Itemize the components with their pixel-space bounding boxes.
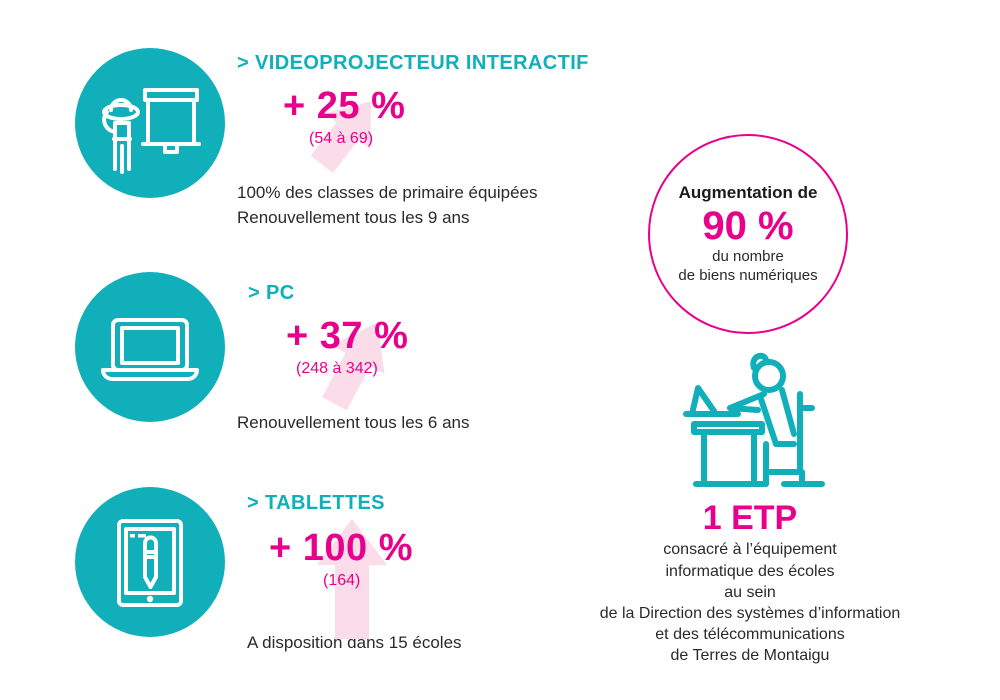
- etp-line-5: et des télécommunications: [540, 624, 960, 645]
- etp-value: 1 ETP: [540, 500, 960, 537]
- teacher-projector-icon: [95, 68, 205, 178]
- badge-line-1: du nombre: [712, 247, 784, 267]
- percent-group-pc: + 37 % (248 à 342): [248, 315, 469, 393]
- etp-icon-wrapper: [672, 352, 852, 497]
- infographic-canvas: > VIDEOPROJECTEUR INTERACTIF + 25 % (54 …: [0, 0, 1000, 700]
- percent-group-videoprojecteur: + 25 % (54 à 69): [237, 85, 589, 163]
- percent-group-tablettes: + 100 % (164): [247, 527, 462, 615]
- etp-line-6: de Terres de Montaigu: [540, 645, 960, 666]
- laptop-icon: [95, 292, 205, 402]
- section-title-tablettes: > TABLETTES: [247, 492, 462, 515]
- section-desc-line-videoprojecteur-1: 100% des classes de primaire équipées: [237, 181, 589, 206]
- percent-range-videoprojecteur: (54 à 69): [309, 130, 589, 148]
- etp-line-3: au sein: [540, 582, 960, 603]
- section-block-videoprojecteur: > VIDEOPROJECTEUR INTERACTIF + 25 % (54 …: [237, 52, 589, 230]
- section-block-tablettes: > TABLETTES + 100 % (164) A disposition …: [247, 492, 462, 656]
- percent-value-tablettes: + 100 %: [269, 527, 462, 570]
- section-desc-line-videoprojecteur-2: Renouvellement tous les 9 ans: [237, 206, 589, 231]
- etp-line-1: consacré à l’équipement: [540, 539, 960, 560]
- augmentation-badge: Augmentation de 90 % du nombre de biens …: [648, 134, 848, 334]
- etp-text-block: 1 ETP consacré à l’équipement informatiq…: [540, 500, 960, 666]
- percent-value-videoprojecteur: + 25 %: [283, 85, 589, 128]
- section-title-videoprojecteur: > VIDEOPROJECTEUR INTERACTIF: [237, 52, 589, 75]
- tablet-stylus-icon: [95, 507, 205, 617]
- badge-top-label: Augmentation de: [679, 183, 818, 203]
- etp-line-2: informatique des écoles: [540, 561, 960, 582]
- section-desc-line-pc-1: Renouvellement tous les 6 ans: [237, 411, 469, 436]
- section-icon-pc: [75, 272, 225, 422]
- percent-value-pc: + 37 %: [286, 315, 469, 358]
- section-desc-line-tablettes-1: A disposition dans 15 écoles: [247, 631, 462, 656]
- section-icon-videoprojecteur: [75, 48, 225, 198]
- section-icon-tablettes: [75, 487, 225, 637]
- section-block-pc: > PC + 37 % (248 à 342) Renouvellement t…: [248, 282, 469, 436]
- percent-range-pc: (248 à 342): [296, 360, 469, 378]
- percent-range-tablettes: (164): [323, 572, 462, 590]
- person-desk-laptop-icon: [672, 352, 852, 492]
- section-title-pc: > PC: [248, 282, 469, 305]
- etp-line-4: de la Direction des systèmes d’informati…: [540, 603, 960, 624]
- badge-value: 90 %: [702, 205, 793, 247]
- badge-line-2: de biens numériques: [678, 266, 817, 286]
